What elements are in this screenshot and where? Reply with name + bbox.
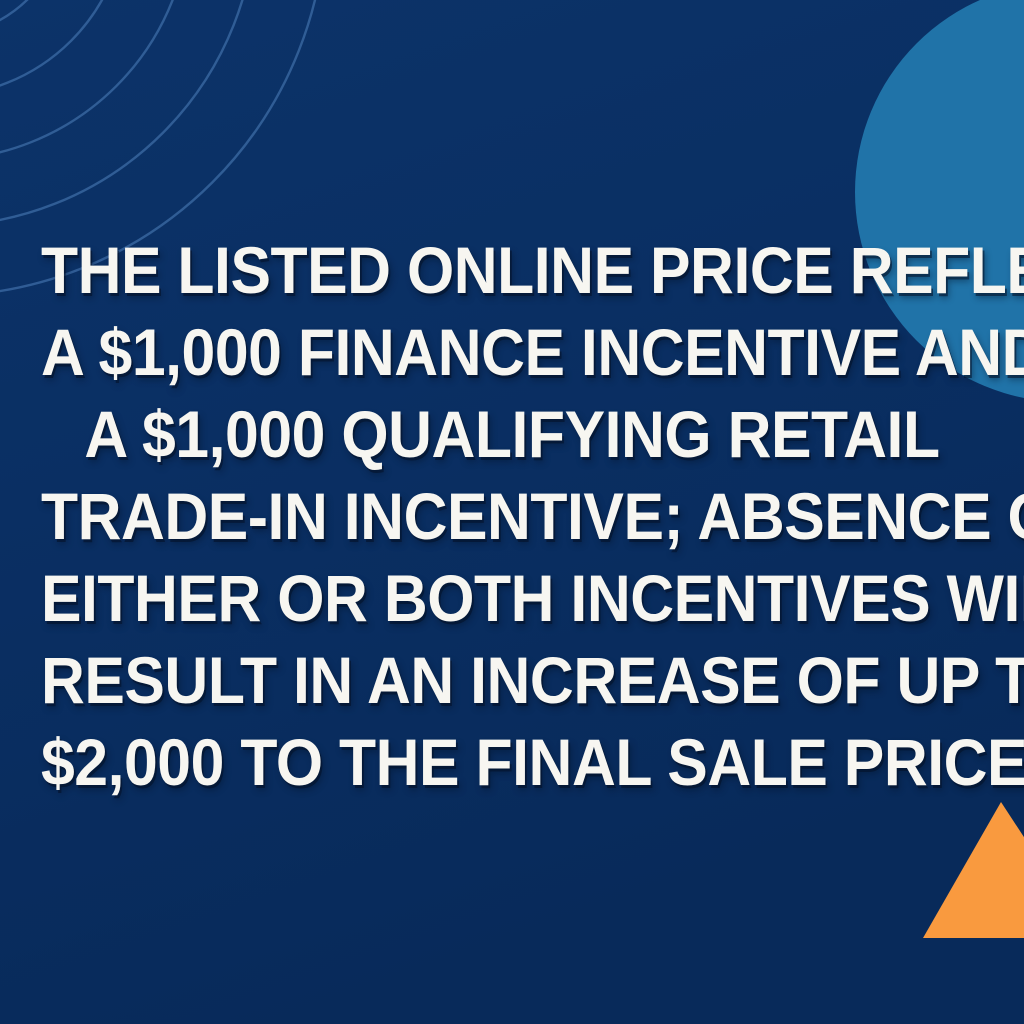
headline-line-4: TRADE-IN INCENTIVE; ABSENCE OF <box>41 475 983 557</box>
disclaimer-graphic: THE LISTED ONLINE PRICE REFLECTS A $1,00… <box>0 0 1024 1024</box>
headline-line-2: A $1,000 FINANCE INCENTIVE AND <box>41 311 983 393</box>
headline-line-5: EITHER OR BOTH INCENTIVES WILL <box>41 557 983 639</box>
headline-block: THE LISTED ONLINE PRICE REFLECTS A $1,00… <box>0 0 1024 1024</box>
headline-line-1: THE LISTED ONLINE PRICE REFLECTS <box>41 229 983 311</box>
headline-line-7: $2,000 TO THE FINAL SALE PRICE. <box>41 721 983 803</box>
headline-line-3: A $1,000 QUALIFYING RETAIL <box>41 393 983 475</box>
headline-line-6: RESULT IN AN INCREASE OF UP TO <box>41 639 983 721</box>
